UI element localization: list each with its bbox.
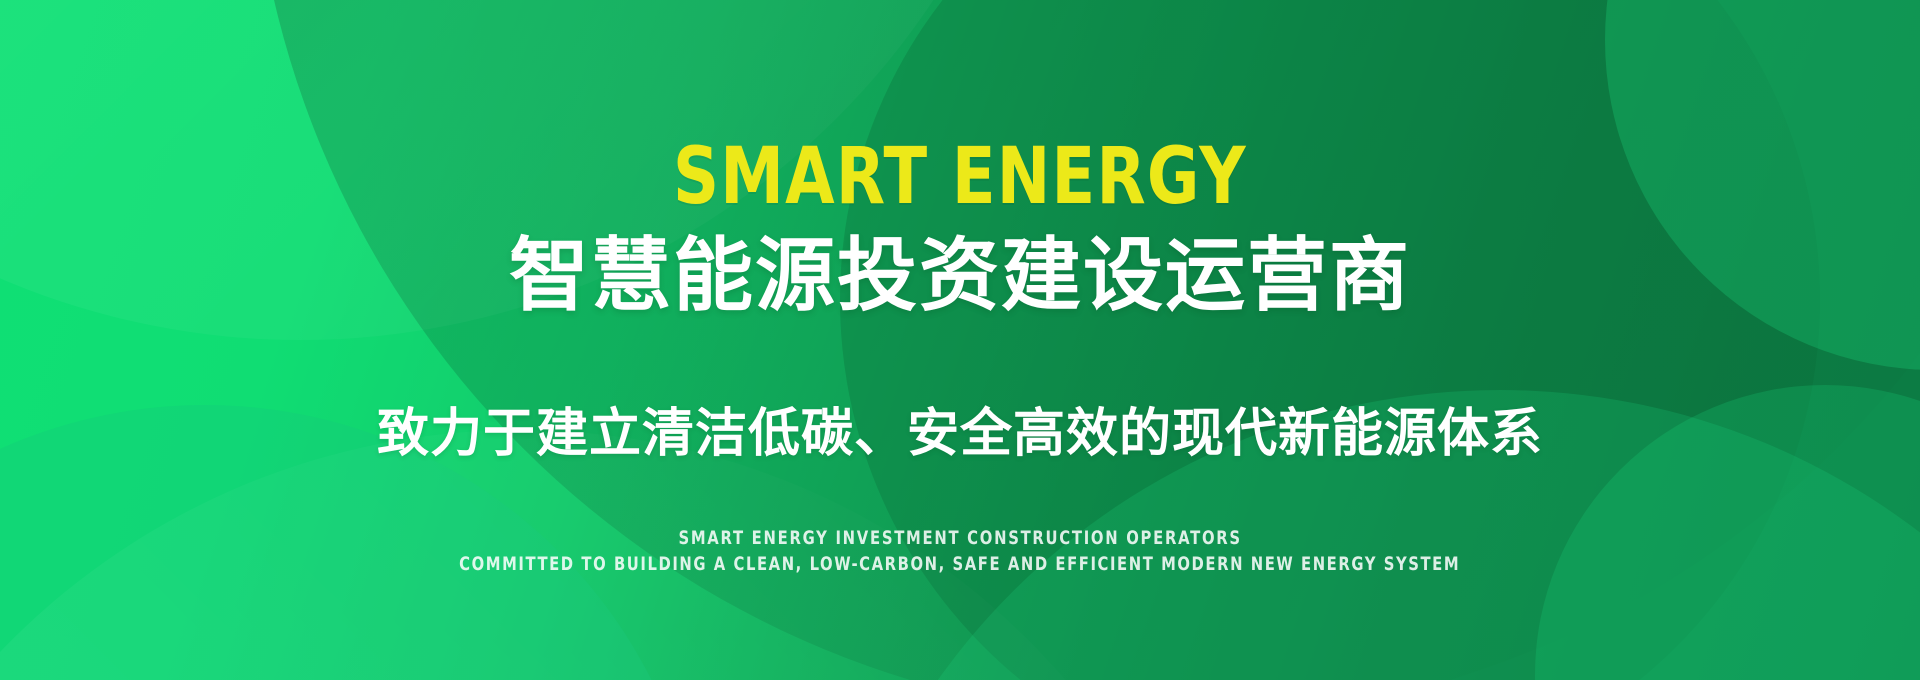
hero-banner: SMART ENERGY 智慧能源投资建设运营商 致力于建立清洁低碳、安全高效的… — [0, 0, 1920, 680]
banner-content: SMART ENERGY 智慧能源投资建设运营商 致力于建立清洁低碳、安全高效的… — [0, 0, 1920, 680]
banner-micro-line-2: COMMITTED TO BUILDING A CLEAN, LOW-CARBO… — [459, 551, 1460, 577]
banner-eyebrow: SMART ENERGY — [673, 138, 1247, 216]
banner-micro-copy: SMART ENERGY INVESTMENT CONSTRUCTION OPE… — [318, 525, 1601, 577]
banner-subheadline: 致力于建立清洁低碳、安全高效的现代新能源体系 — [377, 406, 1543, 462]
banner-headline: 智慧能源投资建设运营商 — [509, 234, 1411, 318]
banner-micro-line-1: SMART ENERGY INVESTMENT CONSTRUCTION OPE… — [678, 525, 1241, 551]
